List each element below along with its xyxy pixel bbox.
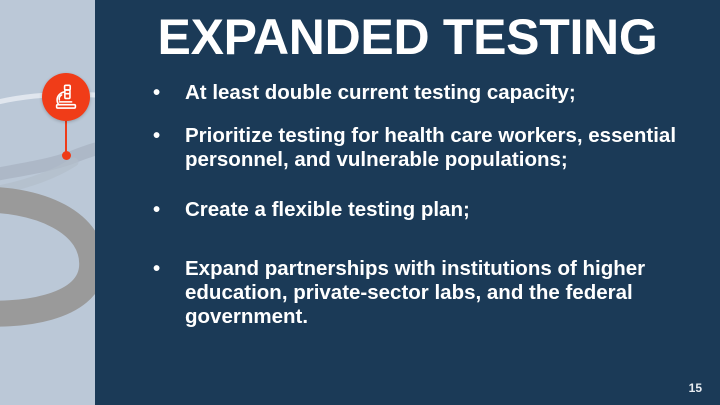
list-item: • Prioritize testing for health care wor…: [147, 124, 707, 172]
pin-stem: [65, 117, 67, 154]
slide-canvas: EXPANDED TESTING • At least double curre…: [0, 0, 720, 405]
list-item-text: Expand partnerships with institutions of…: [185, 257, 685, 328]
list-item-text: Create a flexible testing plan;: [185, 198, 685, 222]
bullet-dot-icon: •: [153, 124, 160, 148]
sidebar-artwork-panel: [0, 0, 95, 405]
bullet-dot-icon: •: [153, 81, 160, 105]
pin-anchor-dot: [62, 151, 71, 160]
bullet-dot-icon: •: [153, 257, 160, 281]
microscope-icon: [51, 82, 81, 112]
bullet-dot-icon: •: [153, 198, 160, 222]
bullet-list: • At least double current testing capaci…: [147, 81, 707, 328]
winding-road-illustration: [0, 0, 95, 405]
main-content-panel: EXPANDED TESTING • At least double curre…: [95, 0, 720, 405]
list-item-text: At least double current testing capacity…: [185, 81, 685, 105]
page-number: 15: [689, 381, 702, 395]
slide-title: EXPANDED TESTING: [95, 11, 720, 64]
list-item: • Create a flexible testing plan;: [147, 198, 707, 222]
list-item-text: Prioritize testing for health care worke…: [185, 124, 685, 172]
microscope-map-pin[interactable]: [42, 73, 90, 163]
list-item: • Expand partnerships with institutions …: [147, 257, 707, 328]
pin-circle-badge: [42, 73, 90, 121]
list-item: • At least double current testing capaci…: [147, 81, 707, 105]
